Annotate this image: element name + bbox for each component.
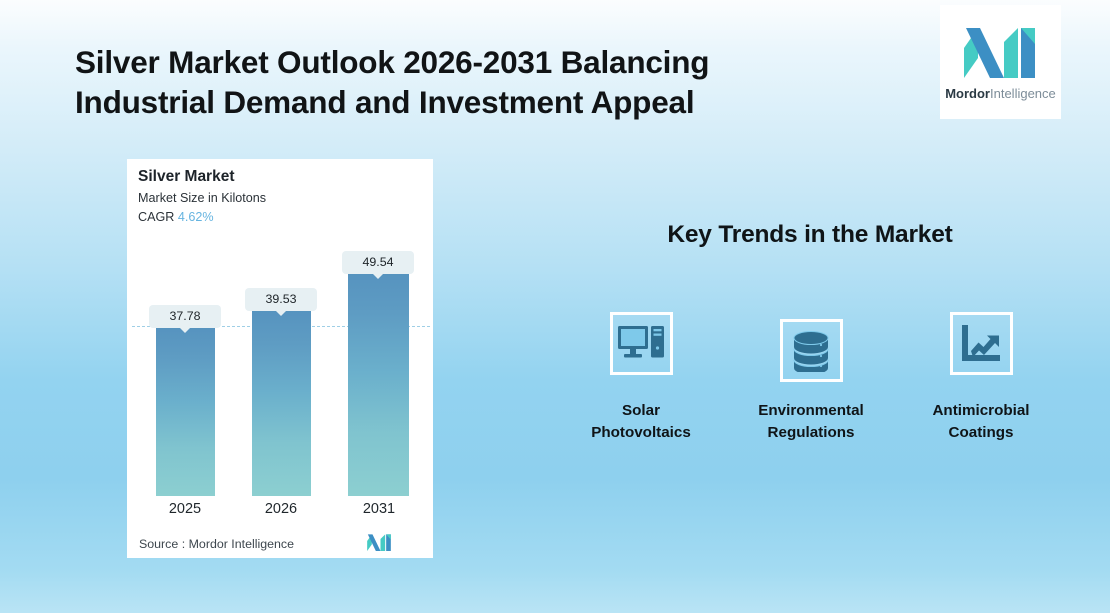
brand-logo: MordorIntelligence xyxy=(940,5,1061,119)
chart-card: Silver Market Market Size in Kilotons CA… xyxy=(127,159,433,558)
trend-label-2-line-2: Regulations xyxy=(768,424,855,441)
bar-2031 xyxy=(348,273,409,496)
bar-value-label-2025: 37.78 xyxy=(149,305,221,328)
database-stack-icon xyxy=(792,330,830,372)
x-axis-tick-2025: 2025 xyxy=(145,501,225,517)
trends-heading: Key Trends in the Market xyxy=(590,221,1030,249)
brand-name-light: Intelligence xyxy=(990,86,1056,101)
chart-source-label: Source : xyxy=(139,537,185,551)
trend-item-environmental-regulations[interactable]: Environmental Regulations xyxy=(736,312,886,444)
trend-label-3-line-2: Coatings xyxy=(949,424,1014,441)
trend-label-1: Solar Photovoltaics xyxy=(591,400,691,444)
trend-icon-box-2 xyxy=(780,319,843,382)
trend-label-2-line-1: Environmental xyxy=(758,402,864,419)
trend-label-3: Antimicrobial Coatings xyxy=(932,400,1029,444)
chart-source-logo-icon xyxy=(364,533,395,551)
bar-2025 xyxy=(156,327,215,496)
desktop-computer-icon xyxy=(618,326,664,362)
trend-icon-box-3 xyxy=(950,312,1013,375)
brand-name-bold: Mordor xyxy=(945,86,990,101)
trend-icon-box-1 xyxy=(610,312,673,375)
trend-label-1-line-2: Photovoltaics xyxy=(591,424,691,441)
mordor-intelligence-logo-icon xyxy=(964,24,1038,78)
page-title: Silver Market Outlook 2026-2031 Balancin… xyxy=(75,42,815,122)
bar-chart-plot: 37.78 39.53 49.54 2025 2026 2031 xyxy=(127,159,433,558)
trend-item-antimicrobial-coatings[interactable]: Antimicrobial Coatings xyxy=(906,312,1056,444)
trends-row: Solar Photovoltaics xyxy=(566,312,1056,444)
chart-source-value: Mordor Intelligence xyxy=(189,537,294,551)
trend-label-3-line-1: Antimicrobial xyxy=(932,402,1029,419)
x-axis-tick-2026: 2026 xyxy=(241,501,321,517)
growth-chart-icon xyxy=(960,325,1002,363)
bar-value-label-2026: 39.53 xyxy=(245,288,317,311)
trend-item-solar-photovoltaics[interactable]: Solar Photovoltaics xyxy=(566,312,716,444)
x-axis-tick-2031: 2031 xyxy=(339,501,419,517)
infographic-canvas: Silver Market Outlook 2026-2031 Balancin… xyxy=(0,0,1110,613)
page-title-line-2: Industrial Demand and Investment Appeal xyxy=(75,82,815,122)
trend-label-1-line-1: Solar xyxy=(622,402,660,419)
chart-source: Source : Mordor Intelligence xyxy=(139,537,294,551)
page-title-line-1: Silver Market Outlook 2026-2031 Balancin… xyxy=(75,42,815,82)
bar-2026 xyxy=(252,310,311,496)
brand-wordmark: MordorIntelligence xyxy=(945,87,1056,101)
bar-value-label-2031: 49.54 xyxy=(342,251,414,274)
trend-label-2: Environmental Regulations xyxy=(758,400,864,444)
